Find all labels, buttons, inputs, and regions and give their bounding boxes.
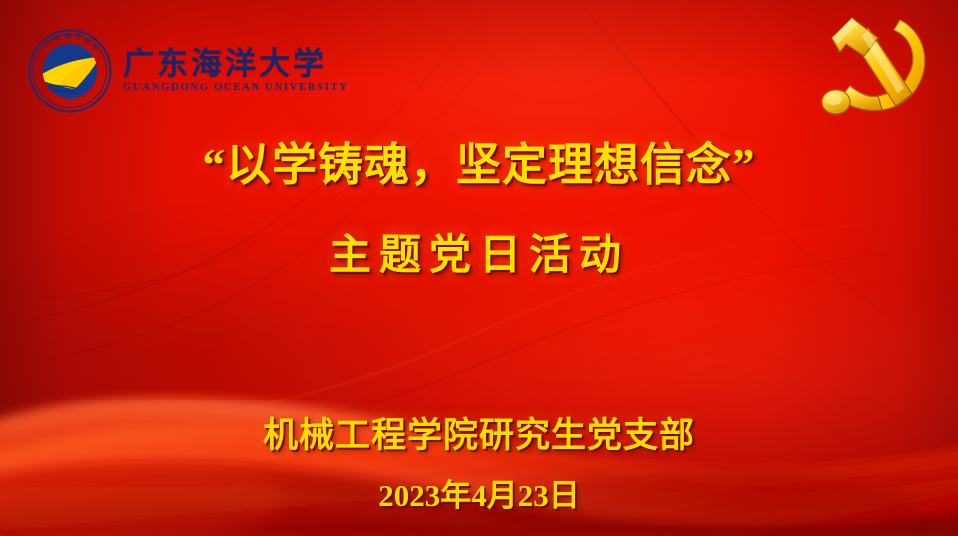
slide-subtitle: 主题党日活动: [0, 232, 958, 280]
university-name-cn: 广东海洋大学: [123, 48, 344, 79]
university-logo: 广 东 海 洋 大 学 1935 广东海洋大学 GUANGDONG OCEAN …: [26, 27, 344, 115]
university-name-en: GUANGDONG OCEAN UNIVERSITY: [123, 83, 349, 94]
footer-block: 机械工程学院研究生党支部 2023年4月23日: [0, 415, 958, 514]
organization-name: 机械工程学院研究生党支部: [0, 415, 958, 457]
slide-main-title: “以学铸魂，坚定理想信念”: [0, 140, 958, 192]
presentation-slide: 广 东 海 洋 大 学 1935 广东海洋大学 GUANGDONG OCEAN …: [0, 0, 958, 536]
svg-text:洋: 洋: [74, 32, 82, 41]
svg-text:海: 海: [64, 32, 72, 41]
event-date: 2023年4月23日: [0, 477, 958, 514]
cpc-hammer-sickle-icon: [808, 8, 938, 124]
title-block: “以学铸魂，坚定理想信念” 主题党日活动: [0, 140, 958, 280]
university-wordmark: 广东海洋大学 GUANGDONG OCEAN UNIVERSITY: [123, 48, 344, 94]
university-emblem-icon: 广 东 海 洋 大 学 1935: [26, 27, 114, 115]
emblem-founded-year: 1935: [64, 97, 76, 103]
